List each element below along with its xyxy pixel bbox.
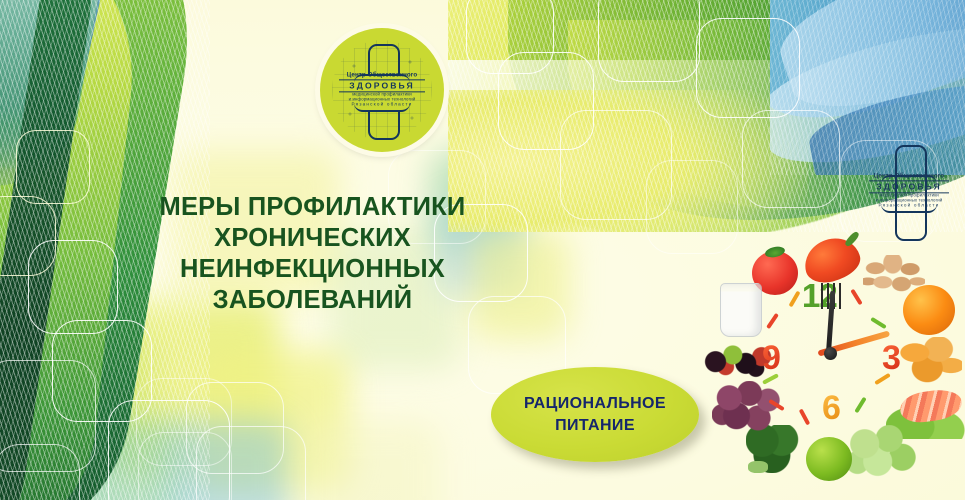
orange-icon xyxy=(903,285,955,335)
logo-text-block: Центр Общественного ЗДОРОВЬЯ медицинской… xyxy=(339,72,425,107)
decor-rounded-square xyxy=(138,432,232,500)
title-line-1: МЕРЫ ПРОФИЛАКТИКИ xyxy=(140,192,485,223)
pill-label-line-2: ПИТАНИЕ xyxy=(555,417,635,434)
food-clock-graphic: 12 3 6 9 xyxy=(700,243,965,500)
logo-line-1: Центр Общественного xyxy=(339,72,425,79)
clock-tick xyxy=(766,313,779,329)
decor-rounded-square xyxy=(16,130,90,204)
rational-nutrition-pill[interactable]: РАЦИОНАЛЬНОЕ ПИТАНИЕ xyxy=(491,367,699,462)
grapes-icon xyxy=(712,381,784,437)
decor-rounded-square xyxy=(598,0,700,82)
decor-rounded-square xyxy=(0,444,80,500)
clock-tick xyxy=(850,289,862,306)
title-line-2: ХРОНИЧЕСКИХ xyxy=(140,223,485,254)
medical-cross-circuit-icon: Центр Общественного ЗДОРОВЬЯ медицинской… xyxy=(861,143,957,239)
logo-line-2: ЗДОРОВЬЯ xyxy=(339,80,425,92)
lime-icon xyxy=(806,437,852,481)
title-line-3: НЕИНФЕКЦИОННЫХ xyxy=(140,254,485,285)
logo-line-5: Рязанской области xyxy=(339,103,425,108)
clock-center-hub xyxy=(824,347,837,360)
logo-badge-primary: Центр Общественного ЗДОРОВЬЯ медицинской… xyxy=(320,28,444,152)
decor-rounded-square xyxy=(0,196,56,276)
clock-tick xyxy=(870,317,887,329)
dried-apricots-icon xyxy=(900,337,962,383)
page-title: МЕРЫ ПРОФИЛАКТИКИ ХРОНИЧЕСКИХ НЕИНФЕКЦИО… xyxy=(140,192,485,315)
clock-digit-6: 6 xyxy=(822,391,841,425)
logo-text-block: Центр Общественного ЗДОРОВЬЯ медицинской… xyxy=(869,173,949,208)
cucumber-slices-icon xyxy=(846,425,918,477)
decor-blob xyxy=(300,420,440,500)
clock-digit-3: 3 xyxy=(882,341,901,375)
clock-tick xyxy=(854,397,866,414)
logo-line-5: Рязанской области xyxy=(869,204,949,209)
red-bell-pepper-icon xyxy=(804,239,860,281)
clock-digit-9: 9 xyxy=(762,341,781,375)
logo-badge-secondary: Центр Общественного ЗДОРОВЬЯ медицинской… xyxy=(861,143,957,239)
clock-tick xyxy=(799,409,811,426)
decor-rounded-square xyxy=(742,110,840,208)
decor-rounded-square xyxy=(696,18,800,118)
decor-rounded-square xyxy=(646,160,738,254)
pill-label: РАЦИОНАЛЬНОЕ ПИТАНИЕ xyxy=(524,393,666,435)
pill-label-line-1: РАЦИОНАЛЬНОЕ xyxy=(524,395,666,412)
logo-line-2: ЗДОРОВЬЯ xyxy=(869,181,949,193)
health-prevention-banner: Центр Общественного ЗДОРОВЬЯ медицинской… xyxy=(0,0,965,500)
glass-of-milk-icon xyxy=(720,283,762,337)
title-line-4: ЗАБОЛЕВАНИЙ xyxy=(140,285,485,316)
medical-cross-circuit-icon: Центр Общественного ЗДОРОВЬЯ медицинской… xyxy=(332,40,432,140)
logo-line-1: Центр Общественного xyxy=(869,173,949,180)
